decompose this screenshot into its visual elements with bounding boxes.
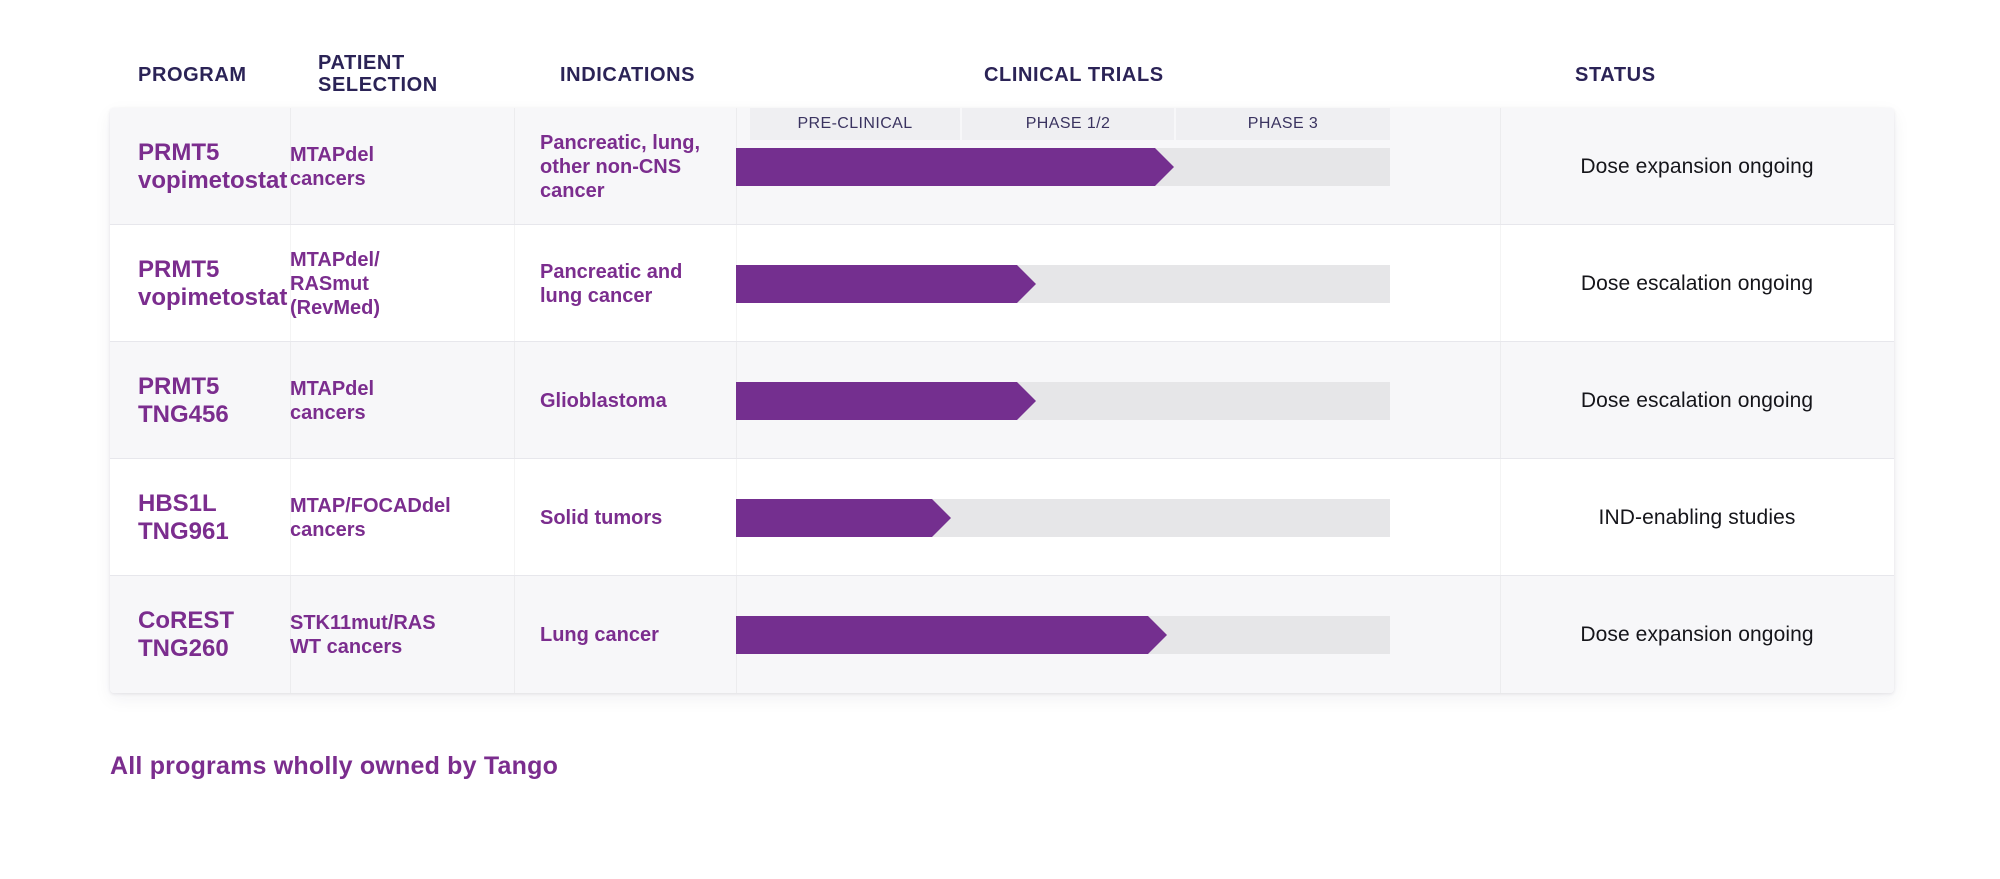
status-text: Dose escalation ongoing [1581,271,1813,296]
status-text: Dose escalation ongoing [1581,388,1813,413]
cell-status: IND-enabling studies [1500,459,1894,576]
progress-arrow-icon [1017,265,1036,303]
indications-text: Lung cancer [540,623,659,647]
status-text: Dose expansion ongoing [1580,154,1813,179]
cell-indications: Solid tumors [540,459,715,576]
progress-arrow-icon [1148,616,1167,654]
program-name: HBS1L TNG961 [138,490,229,546]
patient-selection-text: MTAPdel cancers [290,143,455,191]
cell-program: PRMT5 vopimetostat [138,108,288,225]
progress-track [736,265,1390,303]
progress-bar [736,382,1017,420]
program-name: PRMT5 vopimetostat [138,139,287,195]
cell-indications: Pancreatic and lung cancer [540,225,715,342]
indications-text: Solid tumors [540,506,662,530]
progress-bar [736,265,1017,303]
column-divider [514,576,515,693]
progress-track [736,616,1390,654]
column-header-patient-selection: PATIENT SELECTION [318,52,438,96]
progress-track [736,499,1390,537]
cell-indications: Lung cancer [540,576,715,693]
phase-axis: PRE-CLINICALPHASE 1/2PHASE 3 [750,108,1390,140]
cell-program: HBS1L TNG961 [138,459,288,576]
progress-bar [736,148,1155,186]
patient-selection-text: MTAP/FOCADdel cancers [290,494,451,542]
cell-indications: Glioblastoma [540,342,715,459]
progress-bar [736,616,1148,654]
indications-text: Pancreatic, lung, other non-CNS cancer [540,131,700,203]
cell-program: PRMT5 vopimetostat [138,225,288,342]
cell-program: CoREST TNG260 [138,576,288,693]
column-divider [514,459,515,576]
column-header-status: STATUS [1575,64,1656,86]
pipeline-chart: PROGRAM PATIENT SELECTION INDICATIONS CL… [0,0,2000,879]
cell-status: Dose escalation ongoing [1500,342,1894,459]
column-header-indications: INDICATIONS [560,64,695,86]
phase-label-pre-clinical: PRE-CLINICAL [750,108,960,140]
table-row: HBS1L TNG961MTAP/FOCADdel cancersSolid t… [110,459,1894,576]
indications-text: Pancreatic and lung cancer [540,260,682,308]
ownership-note: All programs wholly owned by Tango [110,752,558,781]
pipeline-table: PRMT5 vopimetostatMTAPdel cancersPancrea… [110,108,1894,693]
cell-indications: Pancreatic, lung, other non-CNS cancer [540,108,715,225]
cell-patient-selection: MTAPdel cancers [290,108,455,225]
phase-label-phase-3: PHASE 3 [1176,108,1390,140]
table-row: PRMT5 vopimetostatMTAPdel/ RASmut (RevMe… [110,225,1894,342]
progress-arrow-icon [1155,148,1174,186]
status-text: Dose expansion ongoing [1580,622,1813,647]
column-divider [514,225,515,342]
patient-selection-text: MTAPdel/ RASmut (RevMed) [290,248,380,320]
program-name: CoREST TNG260 [138,607,234,663]
progress-track [736,148,1390,186]
column-header-clinical-trials: CLINICAL TRIALS [984,64,1164,86]
cell-status: Dose expansion ongoing [1500,576,1894,693]
patient-selection-text: STK11mut/RAS WT cancers [290,611,436,659]
column-divider [514,108,515,225]
cell-status: Dose escalation ongoing [1500,225,1894,342]
table-row: PRMT5 TNG456MTAPdel cancersGlioblastomaD… [110,342,1894,459]
cell-patient-selection: MTAPdel cancers [290,342,455,459]
column-header-patient-selection-line1: PATIENT [318,52,438,74]
indications-text: Glioblastoma [540,389,667,413]
progress-arrow-icon [1017,382,1036,420]
cell-patient-selection: MTAP/FOCADdel cancers [290,459,455,576]
phase-label-phase-1-2: PHASE 1/2 [962,108,1174,140]
column-header-row: PROGRAM PATIENT SELECTION INDICATIONS CL… [0,48,2000,98]
patient-selection-text: MTAPdel cancers [290,377,455,425]
progress-arrow-icon [932,499,951,537]
table-row: CoREST TNG260STK11mut/RAS WT cancersLung… [110,576,1894,693]
column-header-patient-selection-line2: SELECTION [318,74,438,96]
cell-program: PRMT5 TNG456 [138,342,288,459]
program-name: PRMT5 vopimetostat [138,256,287,312]
column-header-program: PROGRAM [138,64,247,86]
column-divider [514,342,515,459]
cell-patient-selection: MTAPdel/ RASmut (RevMed) [290,225,455,342]
table-row: PRMT5 vopimetostatMTAPdel cancersPancrea… [110,108,1894,225]
cell-status: Dose expansion ongoing [1500,108,1894,225]
program-name: PRMT5 TNG456 [138,373,229,429]
progress-track [736,382,1390,420]
status-text: IND-enabling studies [1599,505,1796,530]
progress-bar [736,499,932,537]
cell-patient-selection: STK11mut/RAS WT cancers [290,576,455,693]
